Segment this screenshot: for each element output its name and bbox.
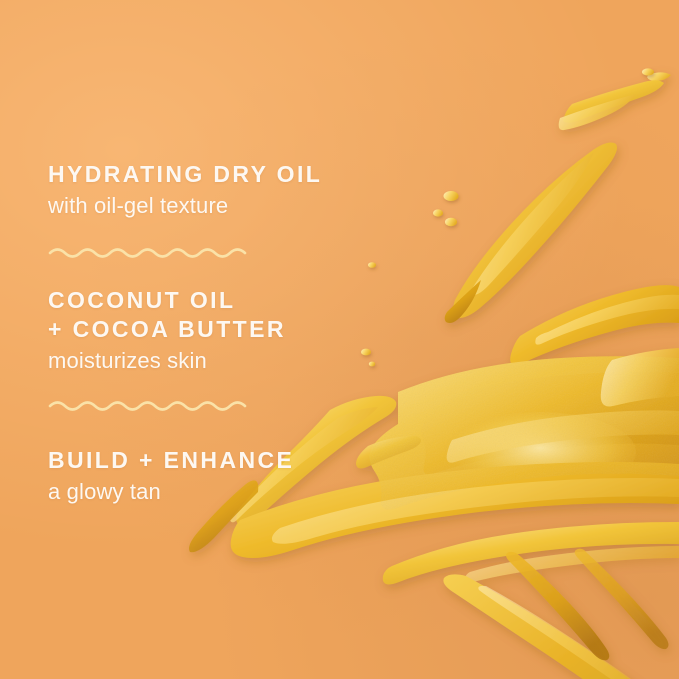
benefit-3-headline: BUILD + ENHANCE xyxy=(48,446,378,475)
benefit-1-headline: HYDRATING DRY OIL xyxy=(48,160,378,189)
benefit-copy-column: HYDRATING DRY OIL with oil-gel texture C… xyxy=(48,0,378,679)
benefit-block-2: COCONUT OIL + COCOA BUTTER moisturizes s… xyxy=(48,286,378,376)
benefit-3-subline: a glowy tan xyxy=(48,478,378,507)
wavy-divider-1 xyxy=(48,243,258,261)
benefit-block-3: BUILD + ENHANCE a glowy tan xyxy=(48,446,378,507)
benefit-block-1: HYDRATING DRY OIL with oil-gel texture xyxy=(48,160,378,221)
benefit-2-subline: moisturizes skin xyxy=(48,347,378,376)
benefit-2-headline: COCONUT OIL + COCOA BUTTER xyxy=(48,286,378,344)
benefit-1-subline: with oil-gel texture xyxy=(48,192,378,221)
product-benefits-poster: HYDRATING DRY OIL with oil-gel texture C… xyxy=(0,0,679,679)
wavy-divider-2 xyxy=(48,396,258,414)
